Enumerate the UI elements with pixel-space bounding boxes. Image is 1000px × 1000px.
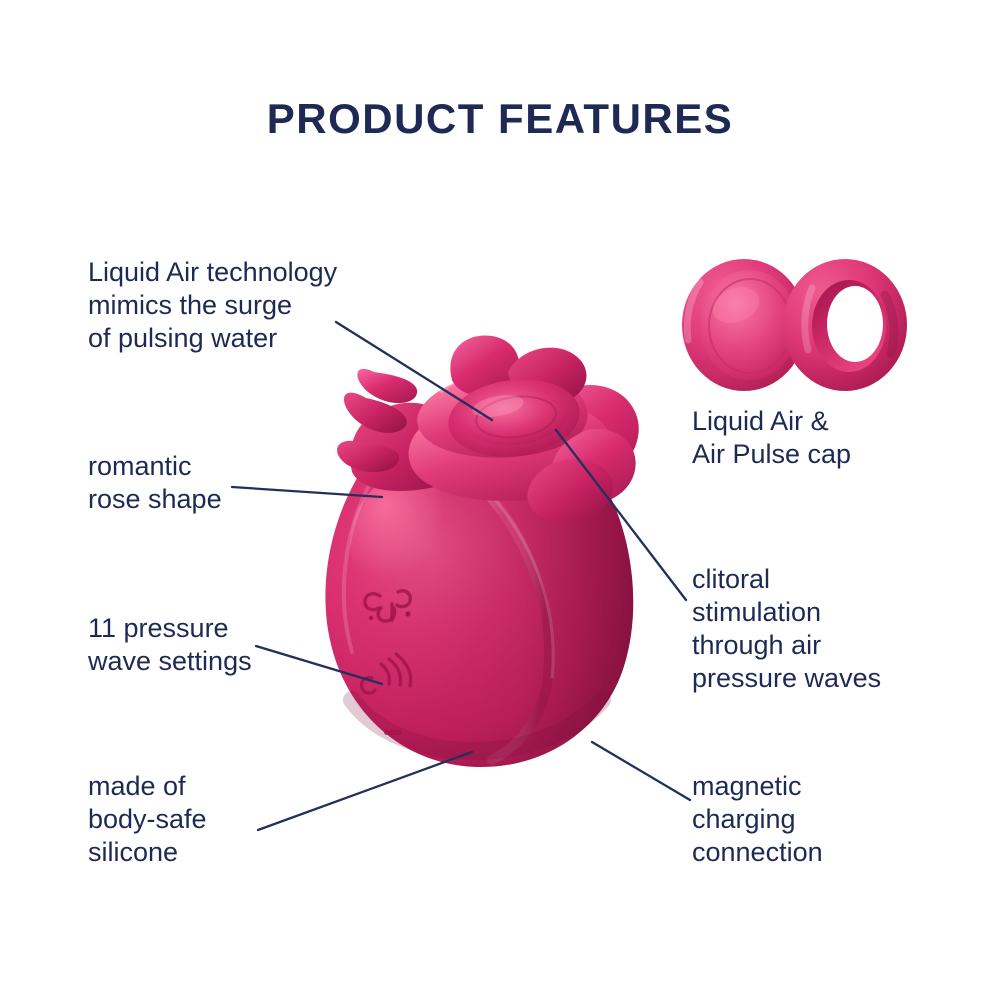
rose-product (325, 335, 638, 767)
leader-magnetic (592, 742, 690, 800)
callout-clitoral-stimulation: clitoral stimulation through air pressur… (692, 563, 952, 695)
air-pulse-cap (783, 259, 907, 391)
callout-magnetic-charging: magnetic charging connection (692, 770, 952, 869)
callout-rose-shape: romantic rose shape (88, 450, 388, 516)
callout-body-safe-silicone: made of body-safe silicone (88, 770, 388, 869)
cap-group (682, 259, 907, 391)
magnetic-charging-contacts (384, 730, 402, 735)
caption-liquid-air-and-air-pulse-cap: Liquid Air & Air Pulse cap (692, 405, 962, 471)
infographic-canvas: PRODUCT FEATURES (0, 0, 1000, 1000)
callout-pressure-settings: 11 pressure wave settings (88, 612, 388, 678)
callout-liquid-air-technology: Liquid Air technology mimics the surge o… (88, 256, 428, 355)
